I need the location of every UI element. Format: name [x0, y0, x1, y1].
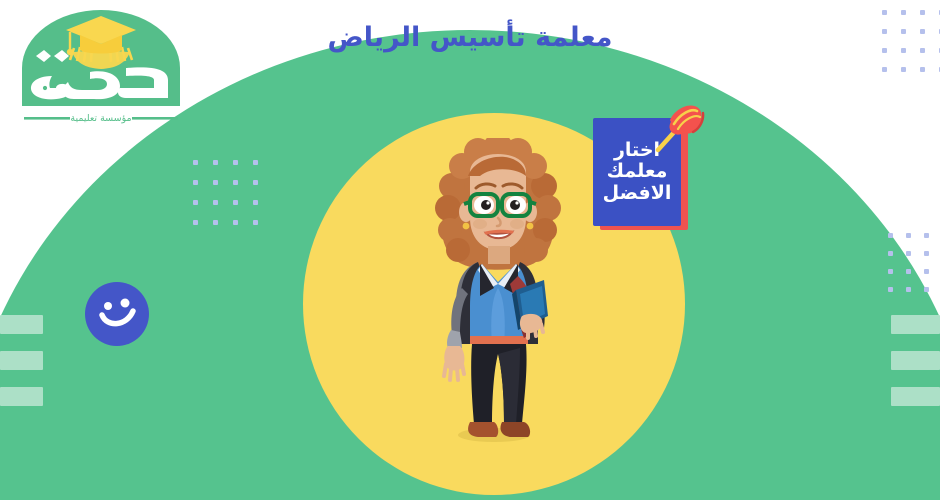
bar-stripe	[891, 387, 940, 406]
dot	[193, 180, 198, 185]
dot	[213, 160, 218, 165]
push-pin-icon	[650, 98, 708, 158]
dot	[901, 10, 906, 15]
bar-stripe	[0, 387, 43, 406]
dot-grid-left	[193, 160, 273, 240]
dot	[233, 180, 238, 185]
dot	[882, 67, 887, 72]
dot	[888, 269, 893, 274]
dot	[193, 220, 198, 225]
bar-stripe	[891, 351, 940, 370]
dot	[253, 220, 258, 225]
dot	[233, 200, 238, 205]
teacher-illustration	[418, 138, 578, 448]
dot	[193, 200, 198, 205]
page-title: معلمة تأسيس الرياض	[0, 22, 940, 53]
dot	[924, 251, 929, 256]
dot	[193, 160, 198, 165]
dot	[253, 200, 258, 205]
dot	[213, 220, 218, 225]
logo-tagline: مؤسسة تعليمية	[70, 113, 131, 124]
dot	[920, 10, 925, 15]
dot	[920, 67, 925, 72]
bar-stripe	[891, 315, 940, 334]
dot	[882, 10, 887, 15]
dot	[906, 287, 911, 292]
dot	[213, 200, 218, 205]
dot	[906, 233, 911, 238]
bar-stripes-left	[0, 315, 43, 423]
dot	[888, 287, 893, 292]
sticky-note-line-3: الافضل	[603, 183, 672, 204]
dot	[233, 160, 238, 165]
dot	[213, 180, 218, 185]
poster-canvas: مؤسسة تعليمية معلمة تأسيس الرياض	[0, 0, 940, 500]
dot	[253, 160, 258, 165]
dot-grid-bottom-right	[888, 233, 940, 305]
dot	[924, 287, 929, 292]
dot	[924, 233, 929, 238]
bar-stripes-right	[891, 315, 940, 423]
sticky-note[interactable]: اختار معلمك الافضل	[588, 100, 708, 235]
sticky-note-line-2: معلمك	[607, 161, 668, 182]
bar-stripe	[0, 315, 43, 334]
dot	[253, 180, 258, 185]
dot	[888, 233, 893, 238]
dot	[924, 269, 929, 274]
bar-stripe	[0, 351, 43, 370]
dot	[233, 220, 238, 225]
dot	[906, 251, 911, 256]
dot	[901, 67, 906, 72]
dot	[888, 251, 893, 256]
dot	[906, 269, 911, 274]
smiley-face-icon	[85, 282, 149, 346]
